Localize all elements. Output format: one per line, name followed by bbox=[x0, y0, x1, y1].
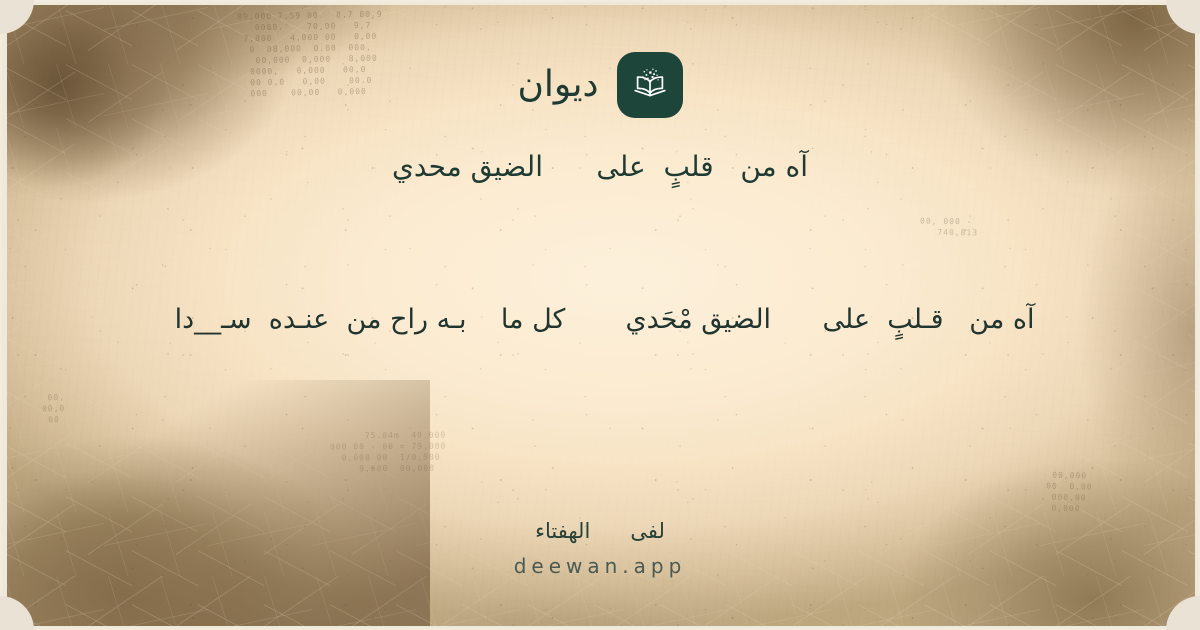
share-card: 00.9 8,7 .00 7,59 89,000 9,7 70,00 .0080… bbox=[0, 0, 1200, 630]
card-footer: لفى الهفتاء deewan.app bbox=[0, 518, 1200, 578]
poet-name: لفى الهفتاء bbox=[535, 518, 665, 545]
poem-title: آه من قلبٍ على الضيق محدي bbox=[392, 146, 808, 188]
hemistich-right: آه من قـلبٍ على الضيق مْحَدي bbox=[615, 300, 1045, 339]
verse-line: آه من قـلبٍ على الضيق مْحَدي كل ما بـه ر… bbox=[155, 300, 1045, 339]
poem-verse: آه من قـلبٍ على الضيق مْحَدي كل ما بـه ر… bbox=[0, 300, 1200, 339]
brand-header: ديوان bbox=[517, 52, 682, 118]
site-url[interactable]: deewan.app bbox=[514, 554, 687, 578]
open-book-sparkles-icon bbox=[617, 52, 683, 118]
card-content: ديوان آه من قلبٍ على الضيق محدي آه من قـ… bbox=[0, 0, 1200, 630]
hemistich-left: كل ما بـه راح من عنـده سـ__دا bbox=[155, 300, 585, 339]
brand-name: ديوان bbox=[517, 67, 598, 103]
